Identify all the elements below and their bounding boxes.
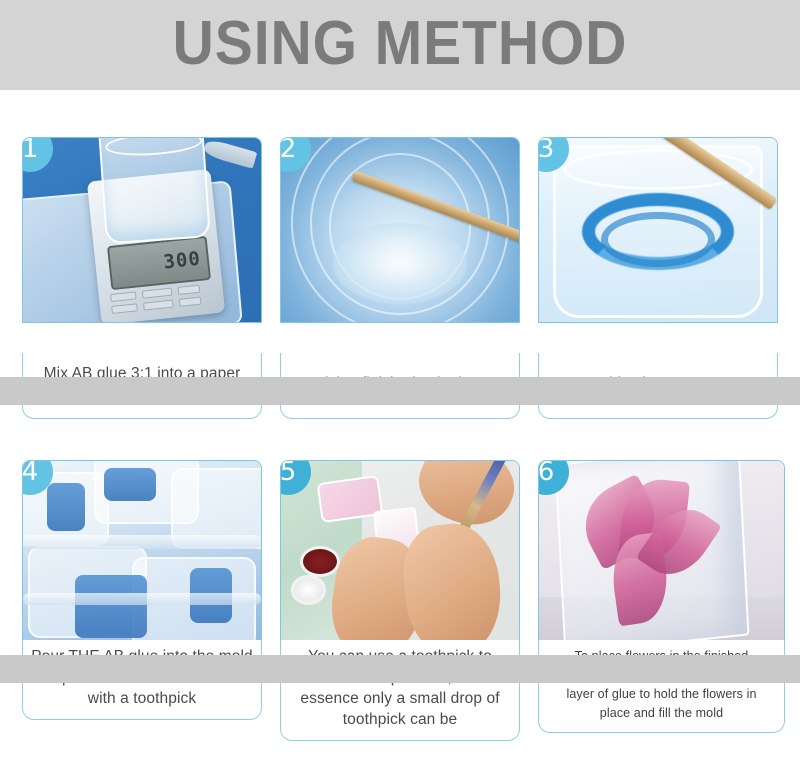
row-separator-band-top [0, 377, 800, 405]
photo-hands-painting [281, 461, 519, 645]
photo-mold-with-resin [23, 461, 261, 645]
step-card-1: 300 1 [22, 137, 262, 323]
photo-cup-interior-mixing [281, 138, 519, 322]
paint-pot-red [300, 546, 340, 577]
row-separator-band-bottom [0, 655, 800, 683]
steps-grid: 300 1 [0, 90, 800, 767]
photo-scale-and-cup: 300 [23, 138, 261, 322]
step-card-4: 4 Pour THE AB glue into the mold and pou… [22, 460, 262, 646]
step-card-2: 2 Mixing finished substitute [280, 137, 520, 323]
photo-cup-with-blue-color [539, 138, 777, 322]
scale-key [178, 296, 201, 306]
spoon [203, 138, 258, 168]
paint-pot-white [291, 575, 327, 604]
steps-row-bottom: 4 Pour THE AB glue into the mold and pou… [0, 460, 800, 767]
scale-key [110, 291, 137, 302]
step-card-5: 5 You can use a toothpick to draw some p… [280, 460, 520, 646]
page-title: USING METHOD [32, 8, 768, 80]
step-photo-4: 4 [22, 460, 262, 646]
mold-ridge [23, 535, 261, 550]
blue-resin-fill [47, 483, 85, 531]
step-photo-5: 5 [280, 460, 520, 646]
step-photo-3: 3 [538, 137, 778, 323]
blue-resin-fill [104, 468, 156, 501]
mold-ridge [23, 593, 261, 604]
step-photo-6: 6 [538, 460, 785, 646]
using-method-infographic: USING METHOD 300 [0, 0, 800, 767]
step-caption-6: To place flowers in the finished product… [538, 640, 785, 733]
plastic-cup [98, 137, 210, 245]
right-hand [398, 519, 507, 646]
steps-row-top: 300 1 [0, 137, 800, 467]
scale-key [177, 285, 200, 295]
step-photo-1: 300 1 [22, 137, 262, 323]
scale-key [111, 303, 138, 314]
step-card-3: 3 Add color essence [538, 137, 778, 323]
blue-resin-fill [75, 575, 146, 638]
step-photo-2: 2 [280, 137, 520, 323]
resin-pool [333, 223, 466, 304]
blue-color-swirl-inner [601, 212, 715, 267]
photo-flower-in-resin [539, 461, 784, 645]
scale-key [143, 299, 174, 310]
step-card-6: 6 To place flowers in the finished produ… [538, 460, 785, 646]
